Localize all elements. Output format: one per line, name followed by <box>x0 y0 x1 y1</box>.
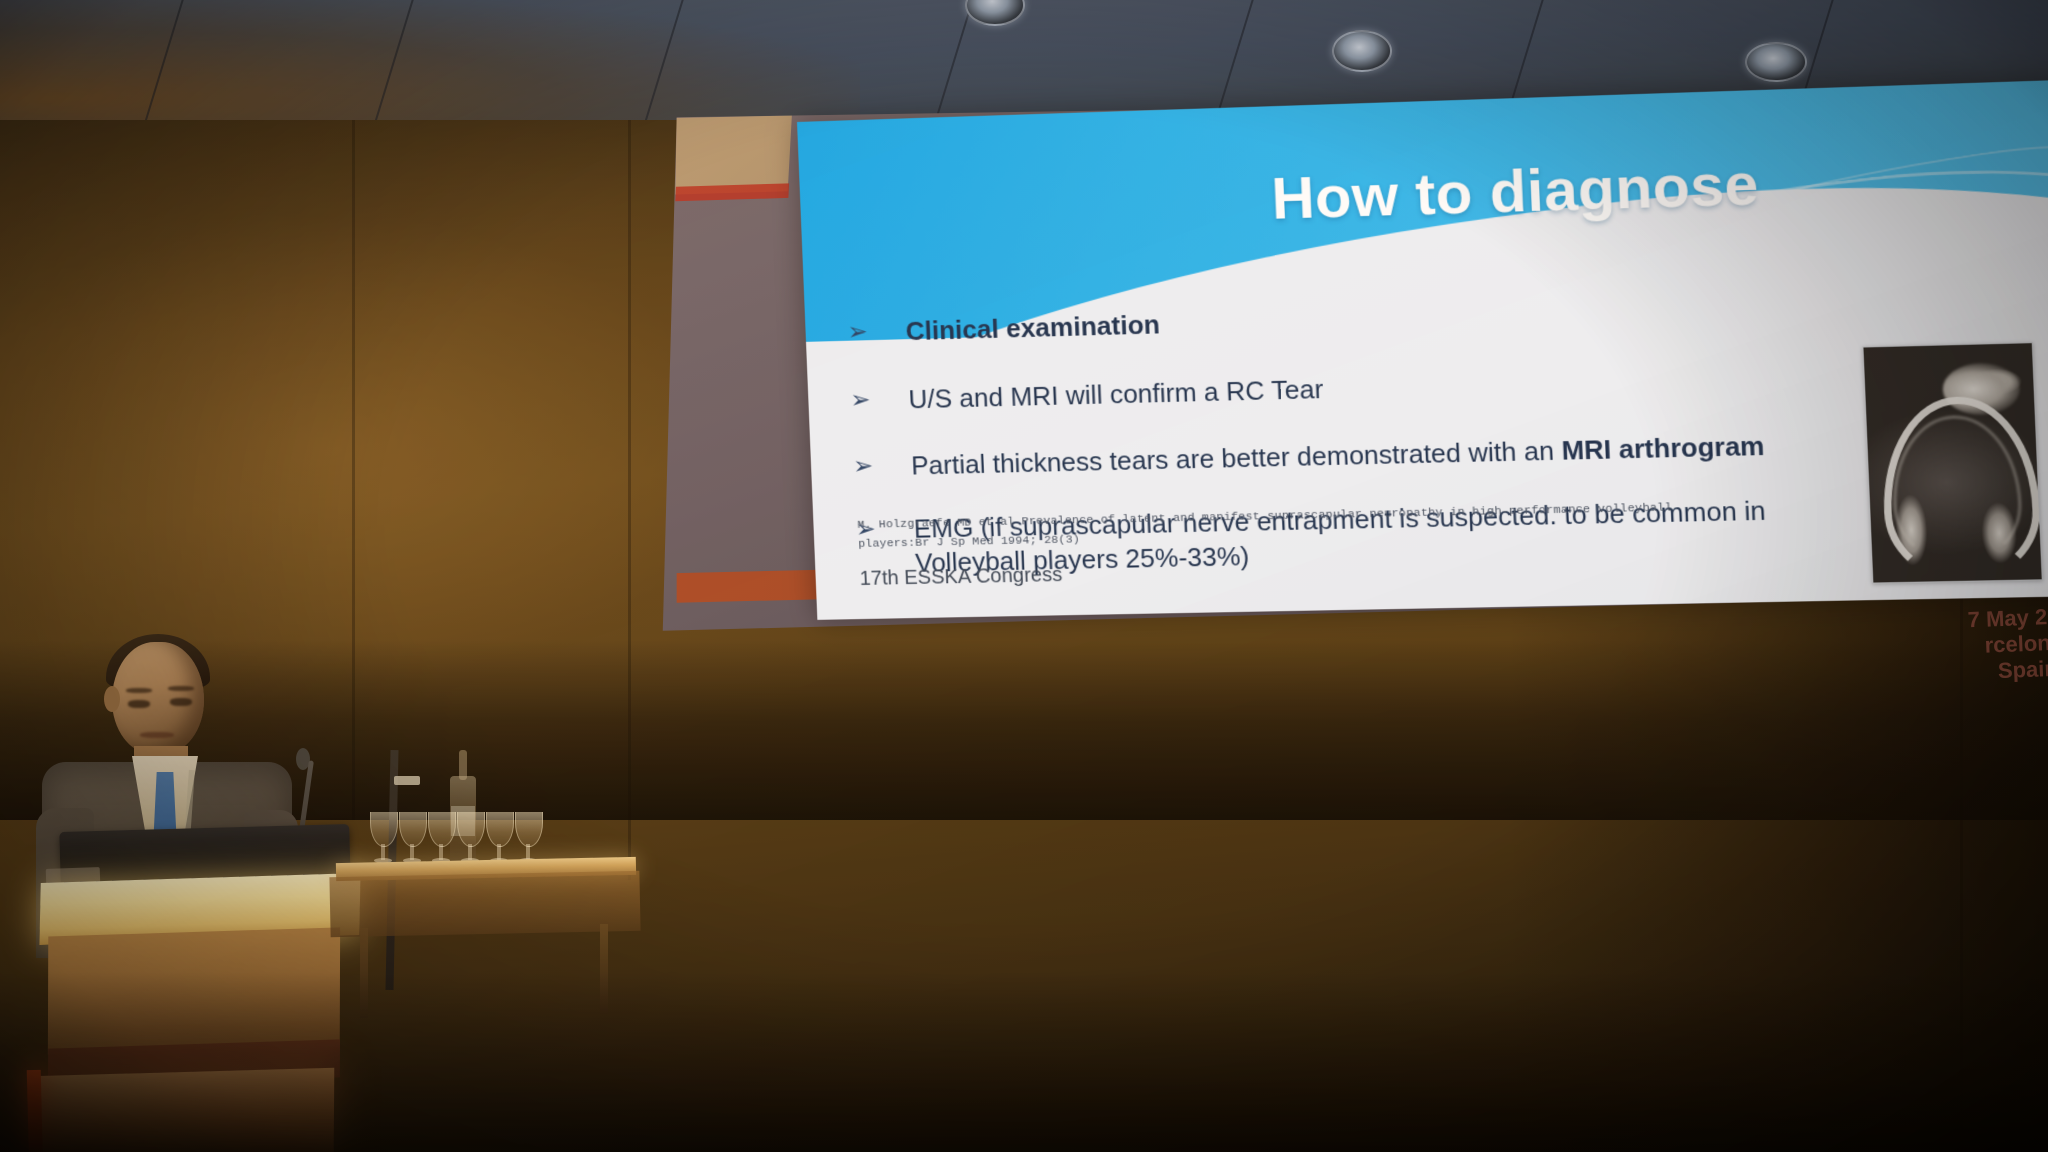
slide-body: ➢ Clinical examination ➢ U/S and MRI wil… <box>847 285 2028 613</box>
bullet-text: Partial thickness tears are better demon… <box>911 423 2023 483</box>
slide-bullet: ➢ U/S and MRI will confirm a RC Tear <box>850 355 2020 419</box>
wine-glass <box>515 812 541 864</box>
bullet-arrow-icon: ➢ <box>852 449 911 482</box>
microphone-stand-clip <box>394 776 420 785</box>
wine-glass <box>428 812 454 864</box>
ceiling-downlight-icon <box>1332 30 1392 72</box>
slide-footer: 17th ESSKA Congress <box>859 564 1063 591</box>
slide-bullet: ➢ Partial thickness tears are better dem… <box>852 423 2022 484</box>
speaker-brow <box>126 688 152 693</box>
wine-glass <box>370 812 396 864</box>
table-skirt <box>329 871 640 937</box>
speaker-ear <box>104 686 120 712</box>
ceiling-downlight-icon <box>1745 42 1807 82</box>
bullet-text-emphasis: MRI arthrogram <box>1561 430 1765 465</box>
bullet-arrow-icon: ➢ <box>850 383 909 416</box>
congress-date: 7 May 2016 <box>1950 602 2048 634</box>
bullet-text: U/S and MRI will confirm a RC Tear <box>908 355 2020 417</box>
speaker-eye <box>128 700 150 708</box>
speaker-eye <box>170 698 192 706</box>
speaker-brow <box>168 686 194 691</box>
bullet-arrow-icon: ➢ <box>847 315 906 348</box>
glass-bowl <box>399 812 427 847</box>
mri-arthrogram-image <box>1862 342 2043 583</box>
glass-bowl <box>457 812 485 847</box>
congress-city: rcelona, Spain <box>1951 628 2048 686</box>
glass-bowl <box>428 812 456 847</box>
speaker-mouth <box>140 732 174 738</box>
ceiling-downlight-icon <box>965 0 1025 26</box>
bullet-text-lead: Partial thickness tears are better demon… <box>911 435 1563 480</box>
glass-bowl <box>486 812 514 847</box>
projection-screen: Congress ESSKA 7 May 2016 rcelona, Spain… <box>660 96 2048 656</box>
conference-photo-scene: Congress ESSKA 7 May 2016 rcelona, Spain… <box>0 0 2048 1152</box>
glass-bowl <box>515 812 543 847</box>
wine-glass <box>457 812 483 864</box>
wine-glass <box>486 812 512 864</box>
glass-bowl <box>370 812 398 847</box>
floor-shadow <box>0 972 2048 1152</box>
wine-glass <box>399 812 425 864</box>
presentation-slide: How to diagnose ➢ Clinical examination ➢… <box>797 80 2048 620</box>
mri-detail <box>1879 395 2043 583</box>
